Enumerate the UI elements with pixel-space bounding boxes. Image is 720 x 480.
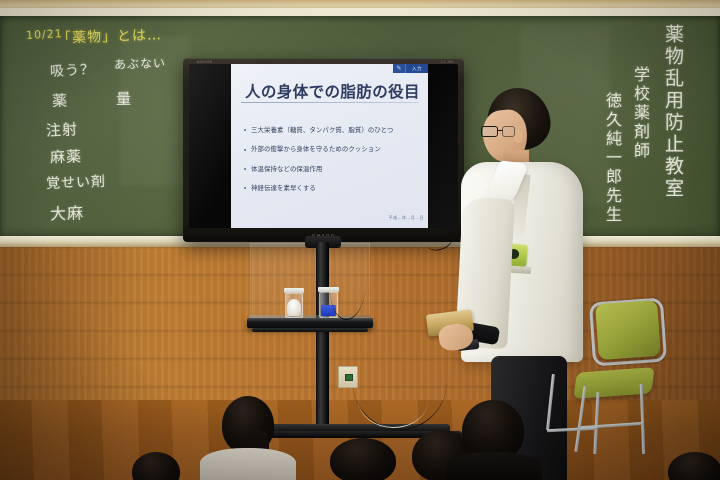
student-body-5 [446,452,542,480]
classroom-scene: 10/21 「薬物」とは… 吸う？ あぶない 薬 量 注射 麻薬 覚せい剤 大麻… [0,0,720,480]
jar-lid [284,288,304,293]
chalk-note-2: 薬 [52,90,69,112]
wall-outlet[interactable] [338,366,358,388]
chair-backrest [595,300,661,360]
slide-footer-date: 平成…年…月…日 [389,215,424,221]
chalk-lecture-title: 薬物乱用防止教室 [660,24,687,200]
jar-body [285,293,303,318]
chalk-note-0: 吸う？ [50,59,96,81]
slide-toolbar[interactable]: ✎ 入力 [393,64,428,73]
stand-shelf [247,318,373,328]
chalk-speaker-role: 学校薬剤師 [628,66,652,161]
slide-toolbar-input-button[interactable]: 入力 [405,64,428,73]
chalk-note-3: 量 [116,88,132,109]
stand-post [316,242,329,432]
chalk-heading: 「薬物」とは… [57,24,163,48]
pen-icon[interactable]: ✎ [393,64,405,73]
chalk-note-7: 大麻 [50,199,85,224]
chair[interactable] [575,300,705,460]
jar-contents-white [287,299,301,316]
presentation-slide[interactable]: ✎ 入力 人の身体での脂肪の役目 三大栄養素（糖質、タンパク質、脂質）のひとつ … [231,64,428,228]
student-body-1 [200,448,296,480]
glasses-icon [481,126,521,138]
slide-title: 人の身体での脂肪の役目 [245,80,420,102]
student-head-3 [330,438,396,480]
slide-bullet-list: 三大栄養素（糖質、タンパク質、脂質）のひとつ 外部の衝撃から身体を守るためのクッ… [244,127,424,205]
jar-white-liquid[interactable] [285,288,303,318]
outlet-port-icon [345,374,353,381]
display-screen[interactable]: ✎ 入力 人の身体での脂肪の役目 三大栄養素（糖質、タンパク質、脂質）のひとつ … [189,64,458,228]
chalk-speaker-name: 徳久純一郎先生 [600,92,624,225]
slide-bullet-1: 外部の衝撃から身体を守るためのクッション [244,146,424,152]
chalk-note-4: 注射 [45,118,78,141]
chalk-note-6: 覚せい剤 [46,171,107,193]
slide-bullet-3: 神経伝達を素早くする [244,185,424,191]
chalk-note-1: あぶない [114,54,167,73]
slide-bullet-2: 体温保持などの保温作用 [244,166,424,172]
presenter [455,88,590,448]
stand-shelf-rail [252,328,368,332]
display-monitor[interactable]: AQUOS LC-60 ✎ 入力 人の身体での脂肪の役目 三大栄養素（糖質、タン… [183,58,464,242]
slide-title-divider [241,102,419,103]
chalk-note-5: 麻薬 [50,145,83,167]
slide-bullet-0: 三大栄養素（糖質、タンパク質、脂質）のひとつ [244,127,424,133]
